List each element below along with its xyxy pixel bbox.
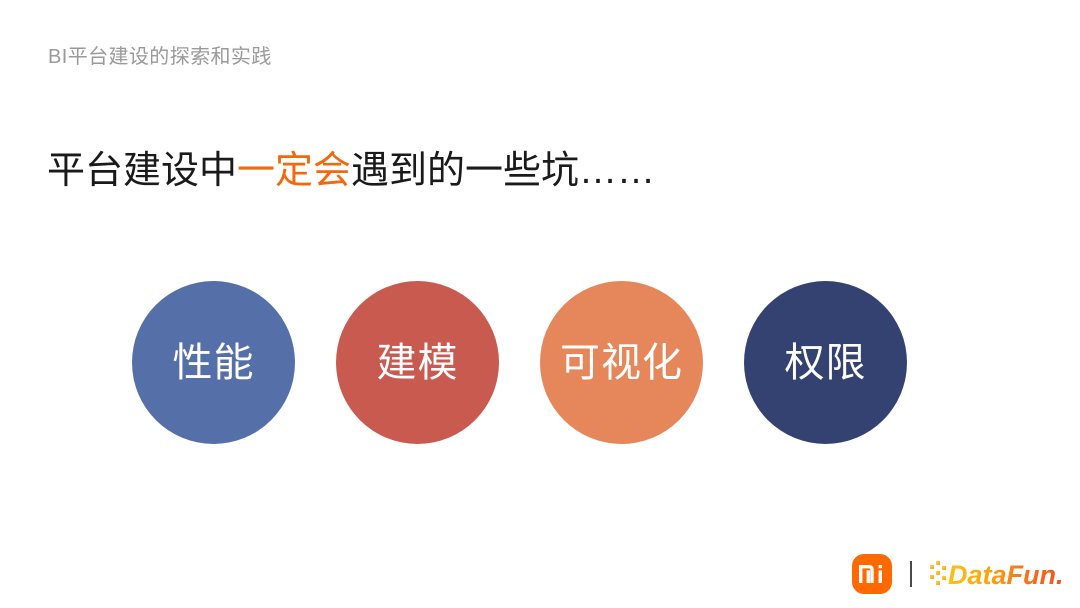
topic-circle-visualization[interactable]: 可视化 <box>540 281 703 444</box>
slide-canvas: BI平台建设的探索和实践 平台建设中一定会遇到的一些坑…… 性能 建模 可视化 … <box>0 0 1080 608</box>
topic-circle-permissions[interactable]: 权限 <box>744 281 907 444</box>
svg-text:DataFun.: DataFun. <box>948 560 1062 590</box>
topic-circle-label: 可视化 <box>560 341 683 385</box>
logo-divider <box>910 561 912 587</box>
topic-circle-row: 性能 建模 可视化 权限 <box>132 281 907 445</box>
title-lead: 平台建设中 <box>47 150 237 192</box>
title-highlight: 一定会 <box>237 150 351 192</box>
datafun-logo-icon: DataFun. <box>930 557 1062 591</box>
page-title: 平台建设中一定会遇到的一些坑…… <box>47 146 655 196</box>
topic-circle-label: 权限 <box>785 341 867 385</box>
topic-circle-performance[interactable]: 性能 <box>132 281 295 444</box>
footer-logos: DataFun. <box>852 552 1062 596</box>
title-tail: 遇到的一些坑 <box>351 150 579 192</box>
topic-circle-label: 建模 <box>377 341 459 385</box>
xiaomi-logo-icon <box>852 554 892 594</box>
slide-kicker: BI平台建设的探索和实践 <box>48 43 272 71</box>
title-ellipsis: …… <box>579 150 655 192</box>
topic-circle-modeling[interactable]: 建模 <box>336 281 499 444</box>
topic-circle-label: 性能 <box>173 341 255 385</box>
